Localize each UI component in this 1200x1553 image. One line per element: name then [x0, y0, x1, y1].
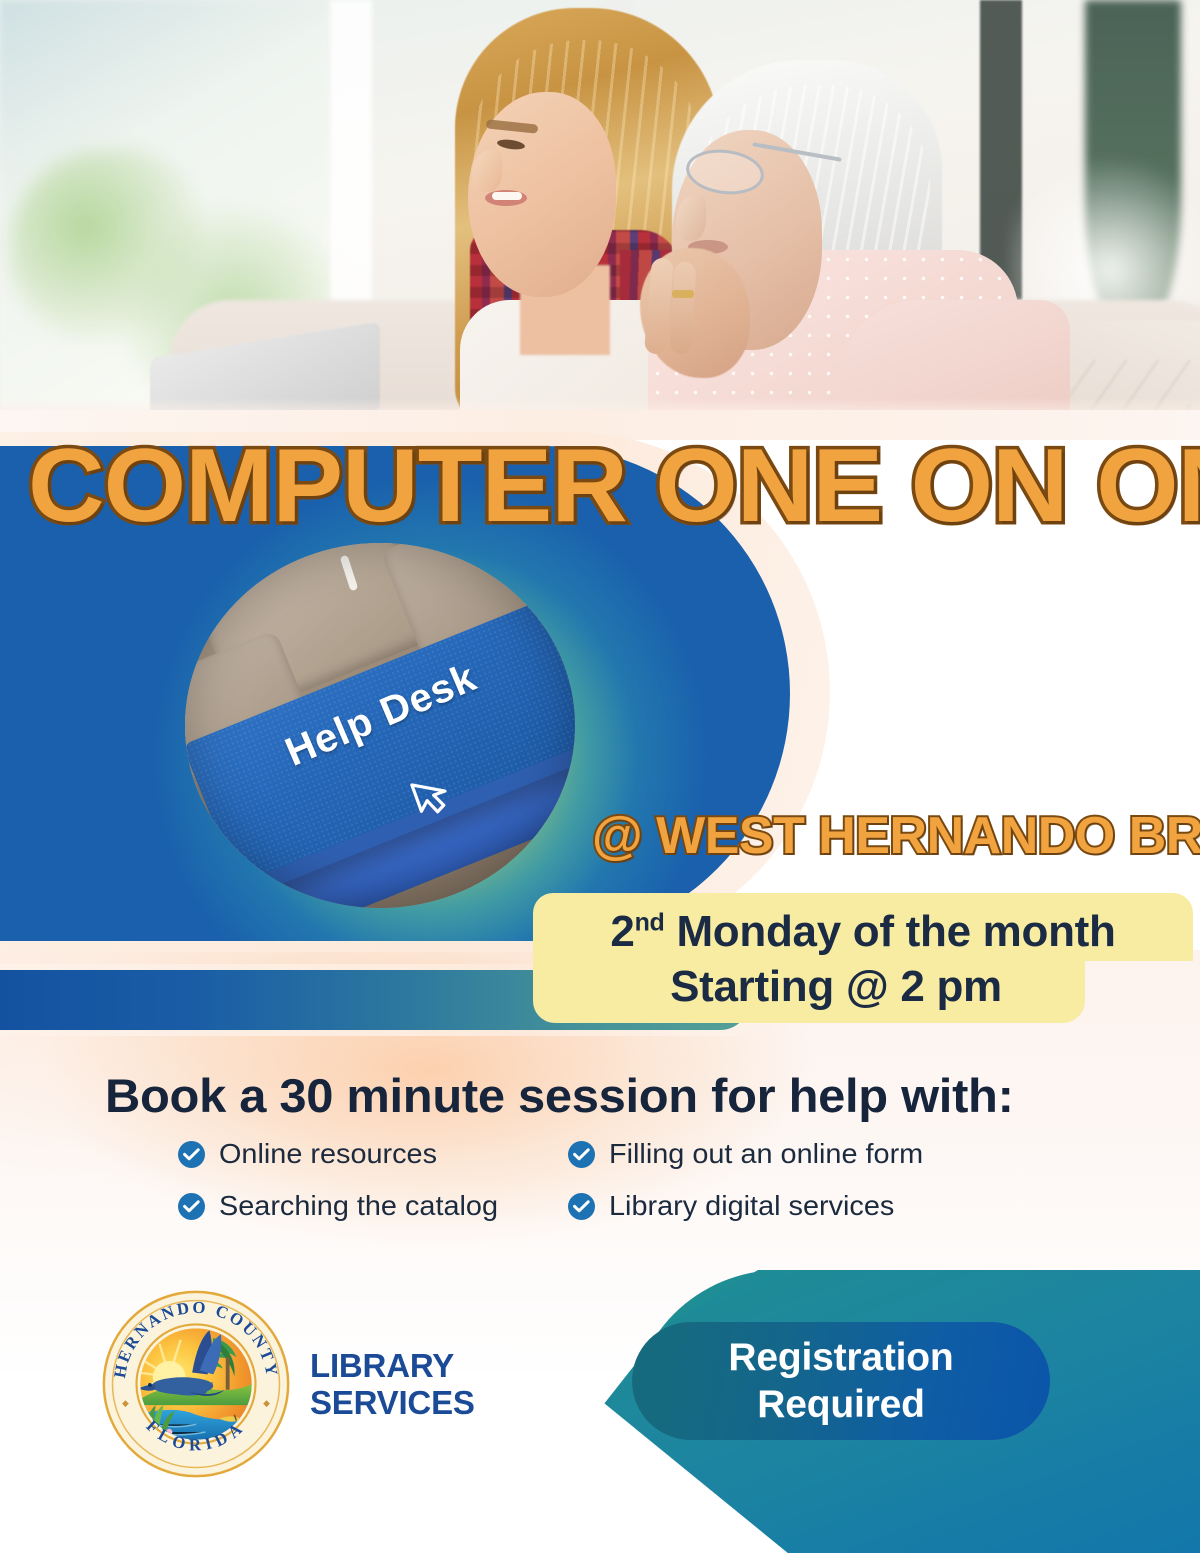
check-circle-icon — [568, 1141, 595, 1168]
cta-line-2: Required — [728, 1381, 953, 1428]
photo-young-woman-nose — [472, 150, 502, 192]
hernando-county-seal-icon: HERNANDO COUNTY FLORIDA — [100, 1288, 292, 1480]
registration-required-badge[interactable]: Registration Required — [632, 1322, 1050, 1440]
list-item: Library digital services — [568, 1190, 958, 1222]
photo-young-woman-teeth — [492, 192, 522, 200]
schedule-ordinal: 2 — [610, 907, 634, 956]
library-logo: HERNANDO COUNTY FLORIDA LIBRARY SERVICES — [100, 1288, 475, 1480]
list-item: Filling out an online form — [568, 1138, 958, 1170]
cta-line-1: Registration — [728, 1334, 953, 1381]
wordmark-line-1: LIBRARY — [310, 1347, 475, 1384]
schedule-ordinal-suffix: nd — [635, 908, 665, 936]
list-item: Searching the catalog — [178, 1190, 568, 1222]
check-circle-icon — [178, 1141, 205, 1168]
services-list: Online resources Filling out an online f… — [178, 1138, 1038, 1222]
keyboard-photo-circle: Help Desk — [185, 543, 575, 908]
schedule-line-1-rest: Monday of the month — [665, 907, 1116, 956]
section-headline: Book a 30 minute session for help with: — [105, 1068, 1014, 1123]
location-subtitle: @ WEST HERNANDO BRANCH — [592, 810, 1200, 862]
list-item-label: Library digital services — [609, 1190, 894, 1222]
photo-older-woman-nose — [676, 195, 706, 241]
registration-required-text: Registration Required — [728, 1334, 953, 1428]
keyboard-circle-vignette — [185, 543, 575, 908]
library-wordmark: LIBRARY SERVICES — [310, 1347, 475, 1421]
check-circle-icon — [568, 1193, 595, 1220]
list-item-label: Searching the catalog — [219, 1190, 498, 1222]
schedule-line-2: Starting @ 2 pm — [670, 959, 1002, 1014]
hero-photo — [0, 0, 1200, 424]
page-title: COMPUTER ONE ON ONE — [28, 434, 1200, 538]
wordmark-line-2: SERVICES — [310, 1384, 475, 1421]
list-item-label: Online resources — [219, 1138, 437, 1170]
schedule-line-1: 2nd Monday of the month — [610, 904, 1115, 959]
schedule-text: 2nd Monday of the month Starting @ 2 pm — [533, 893, 1193, 1025]
list-item-label: Filling out an online form — [609, 1138, 923, 1170]
photo-older-woman-ring — [672, 290, 694, 298]
check-circle-icon — [178, 1193, 205, 1220]
flyer-poster: Help Desk COMPUTER ONE ON ONE @ WEST HER… — [0, 0, 1200, 1553]
list-item: Online resources — [178, 1138, 568, 1170]
